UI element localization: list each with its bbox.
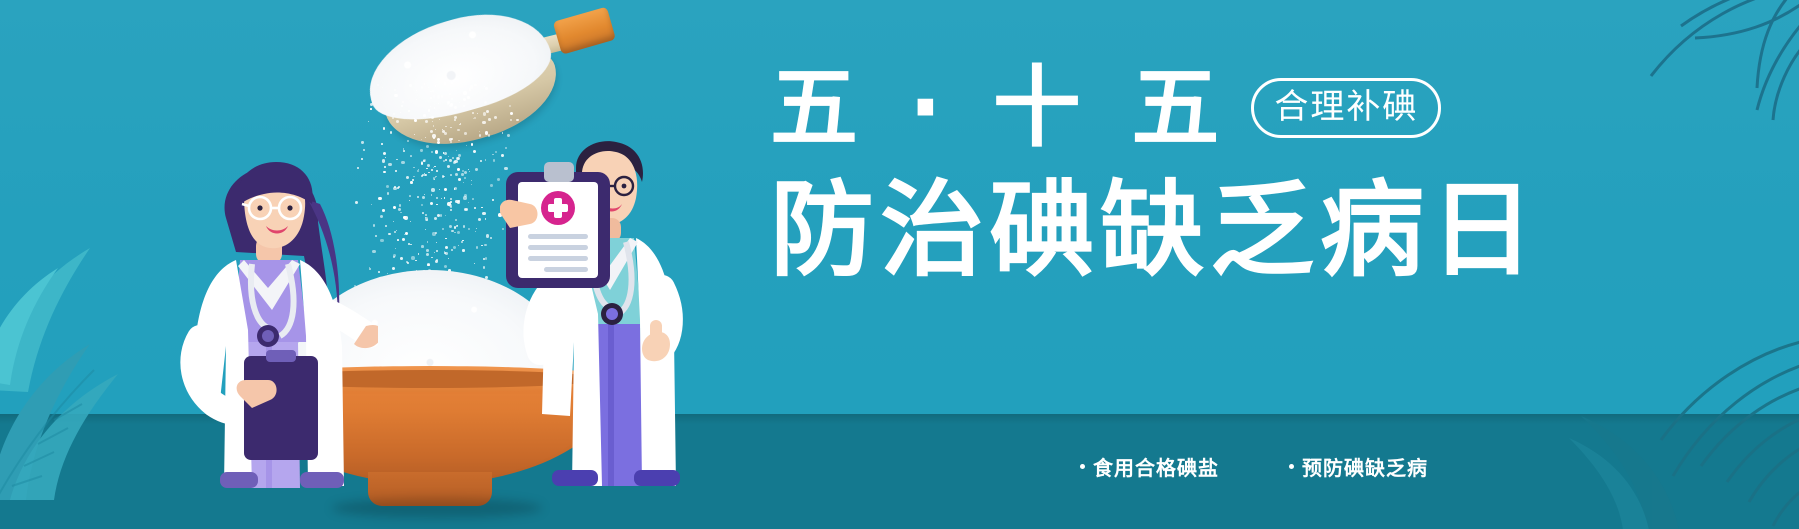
salt-grain (422, 196, 425, 199)
salt-grain (485, 131, 489, 135)
salt-grain (410, 155, 412, 157)
salt-grain (392, 267, 395, 270)
salt-grain (435, 150, 438, 153)
salt-grain (474, 84, 477, 87)
salt-grain (426, 168, 427, 169)
salt-grain (378, 271, 380, 273)
salt-grain (411, 256, 415, 260)
salt-grain (457, 129, 460, 132)
salt-grain (457, 231, 460, 234)
salt-grain (425, 120, 428, 123)
salt-grain (451, 82, 453, 84)
salt-grain (475, 231, 476, 232)
salt-grain (435, 260, 439, 264)
salt-grain (470, 85, 473, 88)
salt-grain (425, 214, 427, 216)
salt-grain (444, 265, 447, 268)
salt-grain (410, 244, 412, 246)
salt-grain (466, 145, 467, 146)
salt-grain (454, 232, 456, 234)
salt-grain (449, 93, 451, 95)
salt-grain (436, 250, 439, 253)
salt-grain (463, 91, 467, 95)
salt-grain (401, 105, 403, 107)
salt-grain (435, 129, 436, 130)
salt-grain (431, 257, 433, 259)
salt-grain (434, 217, 437, 220)
salt-grain (476, 246, 478, 248)
salt-grain (361, 141, 363, 143)
salt-grain (421, 162, 423, 164)
salt-grain (382, 159, 386, 163)
salt-grain (394, 89, 396, 91)
salt-grain (507, 134, 510, 137)
salt-grain (449, 159, 452, 162)
salt-grain (428, 87, 429, 88)
salt-grain (445, 159, 447, 161)
salt-grain (416, 90, 417, 91)
salt-grain (482, 212, 485, 215)
salt-illustration (0, 0, 760, 529)
salt-grain (410, 221, 411, 222)
salt-grain (377, 84, 380, 87)
salt-grain (459, 102, 461, 104)
salt-grain (396, 159, 398, 161)
salt-grain (393, 256, 395, 258)
salt-grain (448, 156, 450, 158)
salt-grain (413, 176, 414, 177)
salt-grain (479, 131, 480, 132)
salt-grain (451, 249, 453, 251)
salt-grain (483, 266, 485, 268)
salt-grain (474, 117, 476, 119)
salt-grain (401, 161, 404, 164)
salt-grain (428, 172, 430, 174)
salt-grain (426, 145, 429, 148)
salt-grain (436, 204, 438, 206)
salt-grain (447, 165, 450, 168)
salt-grain (461, 241, 463, 243)
spoon-handle-tip (553, 7, 616, 55)
salt-grain (451, 138, 453, 140)
salt-grain (454, 119, 456, 121)
salt-grain (431, 194, 432, 195)
salt-grain (450, 209, 452, 211)
salt-grain (385, 157, 386, 158)
salt-grain (434, 107, 436, 109)
salt-grain (441, 198, 443, 200)
salt-grain (458, 178, 461, 181)
salt-grain (457, 157, 460, 160)
tagline-item-1: 食用合格碘盐 (1080, 452, 1219, 481)
salt-grain (433, 125, 434, 126)
salt-grain (388, 233, 391, 236)
salt-grain (457, 168, 460, 171)
salt-grain (460, 123, 462, 125)
tagline-item-2-label: 预防碘缺乏病 (1302, 452, 1428, 481)
salt-grain (394, 94, 398, 98)
salt-grain (393, 113, 395, 115)
salt-grain (494, 116, 497, 119)
salt-grain (426, 253, 429, 256)
salt-grain (441, 95, 443, 97)
salt-grain (485, 218, 487, 220)
salt-grain (431, 151, 433, 153)
salt-grain (452, 157, 454, 159)
salt-grain (454, 116, 457, 119)
salt-grain (395, 248, 396, 249)
salt-grain (400, 212, 402, 214)
salt-grain (479, 134, 482, 137)
salt-grain (427, 241, 428, 242)
salt-grain (400, 257, 403, 260)
salt-grain (437, 138, 440, 141)
salt-grain (436, 170, 438, 172)
bowl-ground-shadow (332, 498, 542, 518)
salt-grain (396, 120, 400, 124)
salt-grain (405, 232, 408, 235)
salt-grain (443, 160, 445, 162)
salt-grain (451, 98, 453, 100)
salt-grain (476, 228, 477, 229)
salt-grain (463, 182, 464, 183)
salt-grain (432, 134, 436, 138)
iodine-deficiency-day-banner: 五 · 十 五 合理补碘 防治碘缺乏病日 食用合格碘盐 预防碘缺乏病 (0, 0, 1799, 529)
salt-grain (439, 189, 441, 191)
salt-grain (433, 167, 434, 168)
salt-grain (440, 214, 443, 217)
salt-grain (472, 198, 474, 200)
salt-grain (450, 103, 453, 106)
salt-grain (397, 187, 399, 189)
salt-grain (415, 260, 417, 262)
salt-grain (425, 137, 426, 138)
salt-grain (436, 197, 438, 199)
salt-grain (437, 95, 440, 98)
salt-grain (402, 101, 404, 103)
salt-grain (392, 117, 394, 119)
salt-grain (444, 152, 447, 155)
salt-grain (474, 207, 476, 209)
salt-grain (439, 156, 442, 159)
salt-grain (423, 114, 426, 117)
salt-grain (409, 195, 411, 197)
salt-grain (388, 163, 392, 167)
salt-grain (398, 208, 401, 211)
salt-grain (430, 130, 433, 133)
salt-grain (424, 173, 425, 174)
salt-grain (416, 99, 417, 100)
salt-grain (445, 126, 446, 127)
salt-grain (408, 110, 410, 112)
date-title: 五 · 十 五 (770, 64, 1229, 152)
salt-grain (397, 239, 399, 241)
salt-grain (382, 209, 385, 212)
salt-grain (478, 218, 481, 221)
salt-grain (378, 197, 382, 201)
salt-grain (468, 169, 469, 170)
salt-grain (413, 167, 415, 169)
salt-grain (485, 159, 486, 160)
salt-grain (464, 177, 466, 179)
female-doctor-illustration (148, 160, 378, 490)
salt-grain (471, 143, 474, 146)
salt-grain (439, 119, 440, 120)
salt-grain (428, 109, 430, 111)
salt-grain (463, 105, 465, 107)
salt-grain (455, 219, 457, 221)
salt-grain (434, 166, 436, 168)
salt-grain (430, 97, 432, 99)
salt-grain (450, 141, 452, 143)
salt-grain (484, 244, 486, 246)
salt-grain (430, 202, 433, 205)
salt-grain (431, 188, 435, 192)
salt-grain (469, 171, 470, 172)
salt-grain (450, 127, 451, 128)
salt-grain (431, 169, 433, 171)
headline-block: 五 · 十 五 合理补碘 防治碘缺乏病日 (770, 64, 1450, 282)
medical-report-clipboard-icon (500, 160, 620, 300)
salt-grain (471, 184, 472, 185)
salt-grain (407, 140, 408, 141)
salt-grain (418, 253, 420, 255)
salt-grain (488, 134, 491, 137)
salt-grain (424, 174, 426, 176)
salt-grain (436, 242, 437, 243)
salt-grain (471, 180, 472, 181)
salt-grain (464, 132, 467, 135)
salt-grain (385, 225, 387, 227)
salt-grain (423, 159, 426, 162)
salt-grain (430, 91, 432, 93)
salt-grain (393, 206, 396, 209)
salt-grain (403, 150, 405, 152)
salt-grain (402, 238, 405, 241)
salt-grain (481, 207, 482, 208)
salt-grain (435, 85, 436, 86)
salt-grain (383, 171, 385, 173)
salt-grain (516, 119, 519, 122)
salt-grain (472, 112, 474, 114)
salt-grain (417, 170, 419, 172)
salt-grain (450, 174, 452, 176)
salt-grain (450, 198, 452, 200)
salt-grain (453, 246, 456, 249)
salt-grain (455, 173, 458, 176)
salt-grain (448, 258, 449, 259)
salt-grain (477, 113, 478, 114)
salt-grain (407, 262, 409, 264)
salt-grain (421, 86, 423, 88)
tagline-item-2: 预防碘缺乏病 (1289, 452, 1428, 481)
salt-grain (445, 215, 446, 216)
salt-grain (484, 101, 487, 104)
salt-grain (438, 103, 439, 104)
salt-grain (480, 160, 483, 163)
salt-grain (445, 238, 447, 240)
salt-grain (393, 221, 394, 222)
salt-grain (474, 263, 475, 264)
salt-grain (410, 181, 412, 183)
salt-grain (485, 257, 488, 260)
salt-grain (421, 139, 422, 140)
salt-grain (404, 216, 407, 219)
salt-grain (422, 212, 424, 214)
salt-grain (431, 116, 434, 119)
salt-grain (400, 112, 401, 113)
salt-grain (420, 149, 422, 151)
salt-grain (454, 106, 456, 108)
salt-grain (434, 179, 436, 181)
salt-grain (425, 229, 426, 230)
salt-grain (509, 105, 511, 107)
salt-grain (395, 170, 397, 172)
salt-grain (502, 132, 504, 134)
salt-grain (458, 140, 460, 142)
salt-grain (445, 246, 448, 249)
salt-grain (399, 204, 401, 206)
salt-grain (511, 90, 513, 92)
salt-grain (464, 171, 467, 174)
salt-grain (456, 225, 458, 227)
salt-grain (370, 103, 373, 106)
salt-grain (469, 88, 472, 91)
salt-grain (384, 166, 386, 168)
salt-grain (464, 208, 468, 212)
salt-grain (386, 185, 389, 188)
main-title: 防治碘缺乏病日 (770, 178, 1450, 282)
salt-grain (473, 118, 474, 119)
salt-grain (387, 192, 390, 195)
dot-icon (1289, 464, 1294, 469)
salt-grain (370, 108, 372, 110)
salt-grain (468, 228, 470, 230)
salt-grain (368, 121, 369, 122)
salt-grain (462, 249, 464, 251)
salt-grain (458, 245, 459, 246)
salt-grain (453, 161, 456, 164)
salt-grain (390, 131, 393, 134)
salt-grain (456, 150, 457, 151)
salt-grain (475, 168, 478, 171)
salt-grain (421, 245, 424, 248)
salt-grain (383, 152, 386, 155)
salt-grain (444, 188, 447, 191)
salt-grain (510, 112, 513, 115)
salt-grain (430, 106, 431, 107)
salt-grain (421, 204, 423, 206)
salt-grain (463, 98, 466, 101)
salt-grain (424, 83, 426, 85)
salt-grain (380, 215, 383, 218)
salt-grain (444, 82, 446, 84)
salt-grain (383, 127, 385, 129)
salt-grain (442, 228, 444, 230)
salt-grain (406, 176, 409, 179)
salt-grain (510, 119, 512, 121)
salt-grain (482, 121, 485, 124)
salt-grain (449, 225, 452, 228)
salt-grain (467, 96, 470, 99)
salt-grain (426, 249, 429, 252)
salt-grain (409, 84, 412, 87)
salt-grain (483, 112, 487, 116)
salt-grain (363, 149, 366, 152)
salt-grain (409, 200, 411, 202)
headline-first-line: 五 · 十 五 合理补碘 (770, 64, 1450, 152)
salt-grain (473, 150, 476, 153)
salt-grain (485, 87, 488, 90)
salt-grain (414, 119, 417, 122)
salt-grain (444, 132, 447, 135)
salt-grain (463, 225, 465, 227)
salt-grain (427, 164, 430, 167)
salt-grain (433, 95, 436, 98)
salt-grain (468, 202, 469, 203)
salt-grain (434, 252, 435, 253)
salt-grain (486, 234, 489, 237)
salt-grain (458, 200, 460, 202)
salt-grain (432, 121, 434, 123)
salt-grain (380, 239, 384, 243)
salt-grain (483, 258, 485, 260)
salt-grain (382, 87, 383, 88)
salt-grain (488, 118, 491, 121)
badge-reasonable-iodine: 合理补碘 (1251, 78, 1441, 138)
salt-grain (393, 187, 396, 190)
dot-icon (1080, 464, 1085, 469)
tagline-item-1-label: 食用合格碘盐 (1093, 452, 1219, 481)
salt-grain (427, 264, 430, 267)
salt-grain (381, 143, 383, 145)
salt-grain (444, 197, 446, 199)
salt-grain (481, 245, 482, 246)
tagline-row: 食用合格碘盐 预防碘缺乏病 (1080, 452, 1428, 481)
salt-grain (414, 134, 415, 135)
salt-grain (412, 179, 414, 181)
salt-grain (417, 196, 419, 198)
